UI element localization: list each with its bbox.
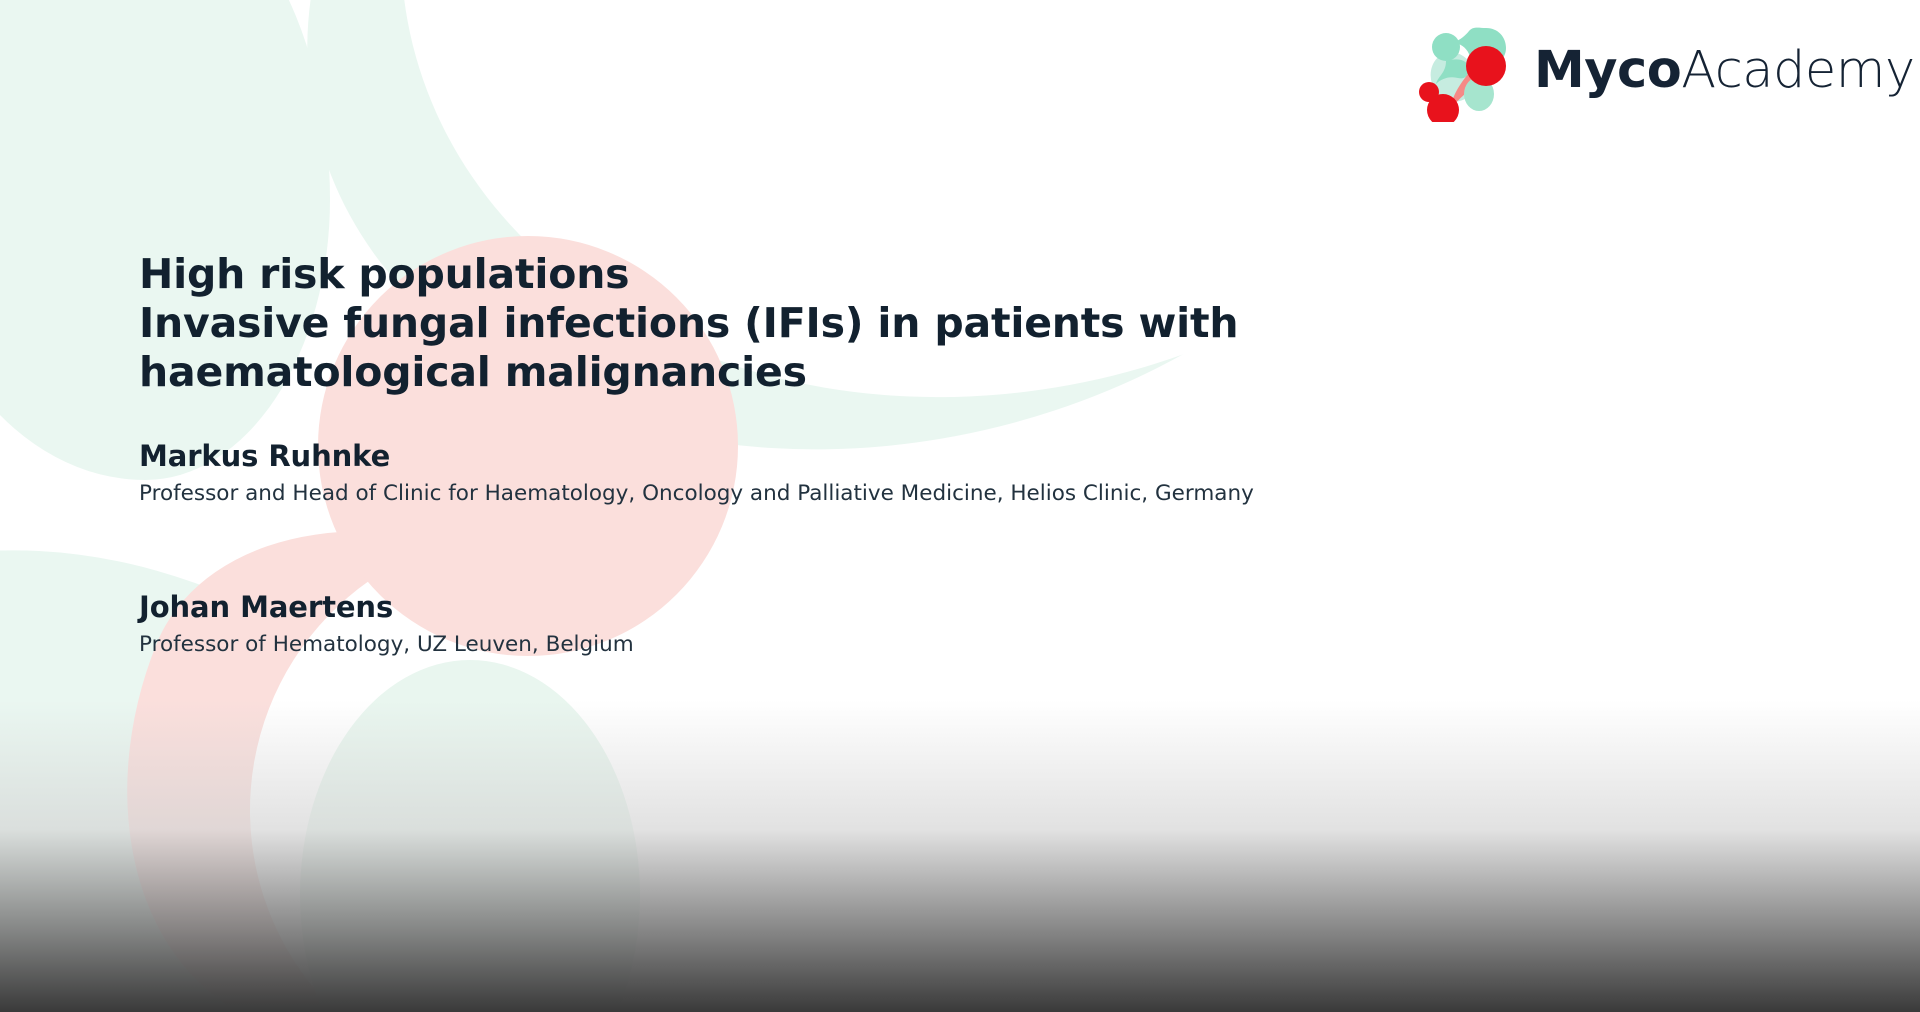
speaker-name-2: Johan Maertens bbox=[139, 589, 1539, 626]
title-slide: MycoAcademy High risk populations Invasi… bbox=[0, 0, 1920, 1012]
green-blob-top-left-icon bbox=[0, 0, 330, 480]
speaker-role-1: Professor and Head of Clinic for Haemato… bbox=[139, 479, 1539, 508]
title-line-1: High risk populations bbox=[139, 250, 1459, 299]
molecule-logo-icon bbox=[1416, 18, 1520, 122]
speaker-name-1: Markus Ruhnke bbox=[139, 438, 1539, 475]
logo-word-academy: Academy bbox=[1681, 41, 1914, 100]
mycoacademy-logo: MycoAcademy bbox=[1416, 18, 1915, 122]
slide-title: High risk populations Invasive fungal in… bbox=[139, 250, 1459, 398]
logo-wordmark: MycoAcademy bbox=[1534, 45, 1915, 96]
logo-word-myco: Myco bbox=[1534, 41, 1681, 100]
title-line-2: Invasive fungal infections (IFIs) in pat… bbox=[139, 299, 1459, 348]
bottom-gradient-overlay bbox=[0, 632, 1920, 1012]
title-line-3: haematological malignancies bbox=[139, 348, 1459, 397]
speaker-block-1: Markus Ruhnke Professor and Head of Clin… bbox=[139, 438, 1539, 508]
